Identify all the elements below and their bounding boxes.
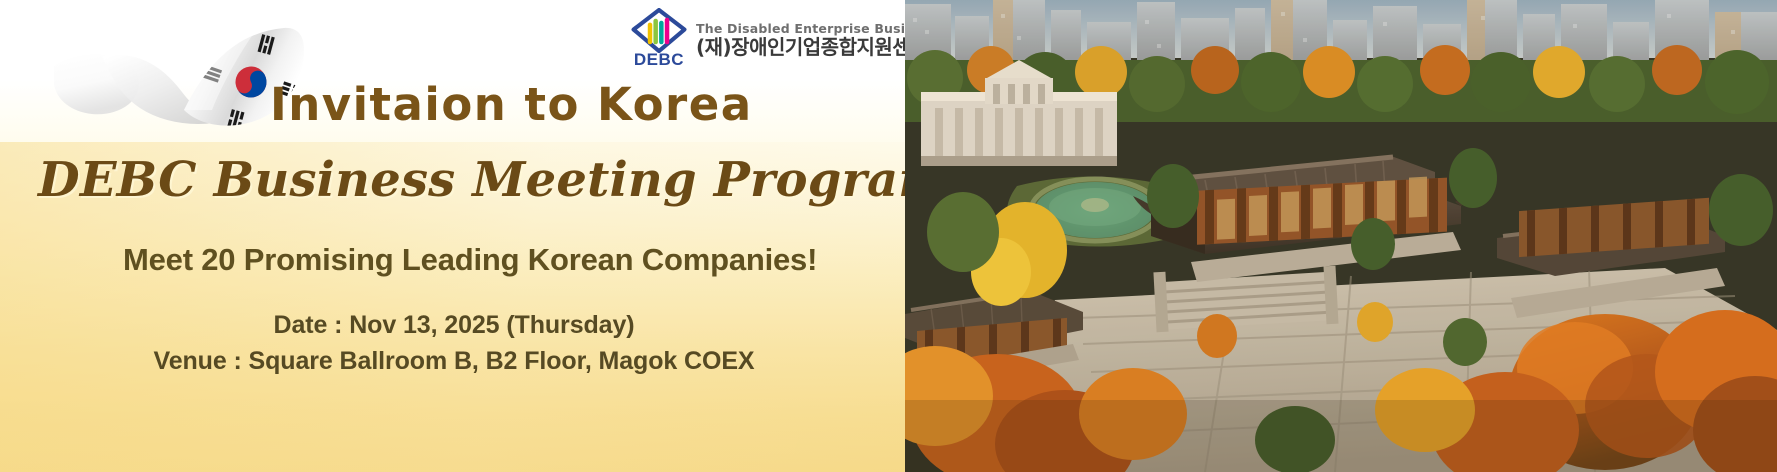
event-venue: Venue : Square Ballroom B, B2 Floor, Mag… — [0, 344, 908, 380]
banner-left-panel: DEBC The Disabled Enterprise Business Ce… — [0, 0, 908, 472]
invitation-banner: DEBC The Disabled Enterprise Business Ce… — [0, 0, 1777, 472]
debc-logo-mark: DEBC — [628, 8, 690, 70]
debc-diamond-icon — [631, 8, 687, 53]
korean-palace-autumn-photo — [905, 0, 1777, 472]
korean-flag-ribbon-icon — [36, 6, 306, 128]
event-date: Date : Nov 13, 2025 (Thursday) — [0, 308, 908, 344]
invitation-title: Invitaion to Korea — [270, 78, 753, 131]
debc-name-korean: (재)장애인기업종합지원센터 — [696, 37, 908, 58]
debc-wordmark: DEBC — [634, 50, 684, 70]
event-details: Date : Nov 13, 2025 (Thursday) Venue : S… — [0, 308, 908, 379]
program-subtitle: Meet 20 Promising Leading Korean Compani… — [123, 242, 817, 278]
debc-logo: DEBC The Disabled Enterprise Business Ce… — [628, 8, 908, 70]
debc-logo-text: The Disabled Enterprise Business Center … — [696, 8, 908, 58]
program-title: DEBC Business Meeting Program 2025 — [38, 152, 908, 208]
debc-name-english: The Disabled Enterprise Business Center — [696, 21, 908, 36]
